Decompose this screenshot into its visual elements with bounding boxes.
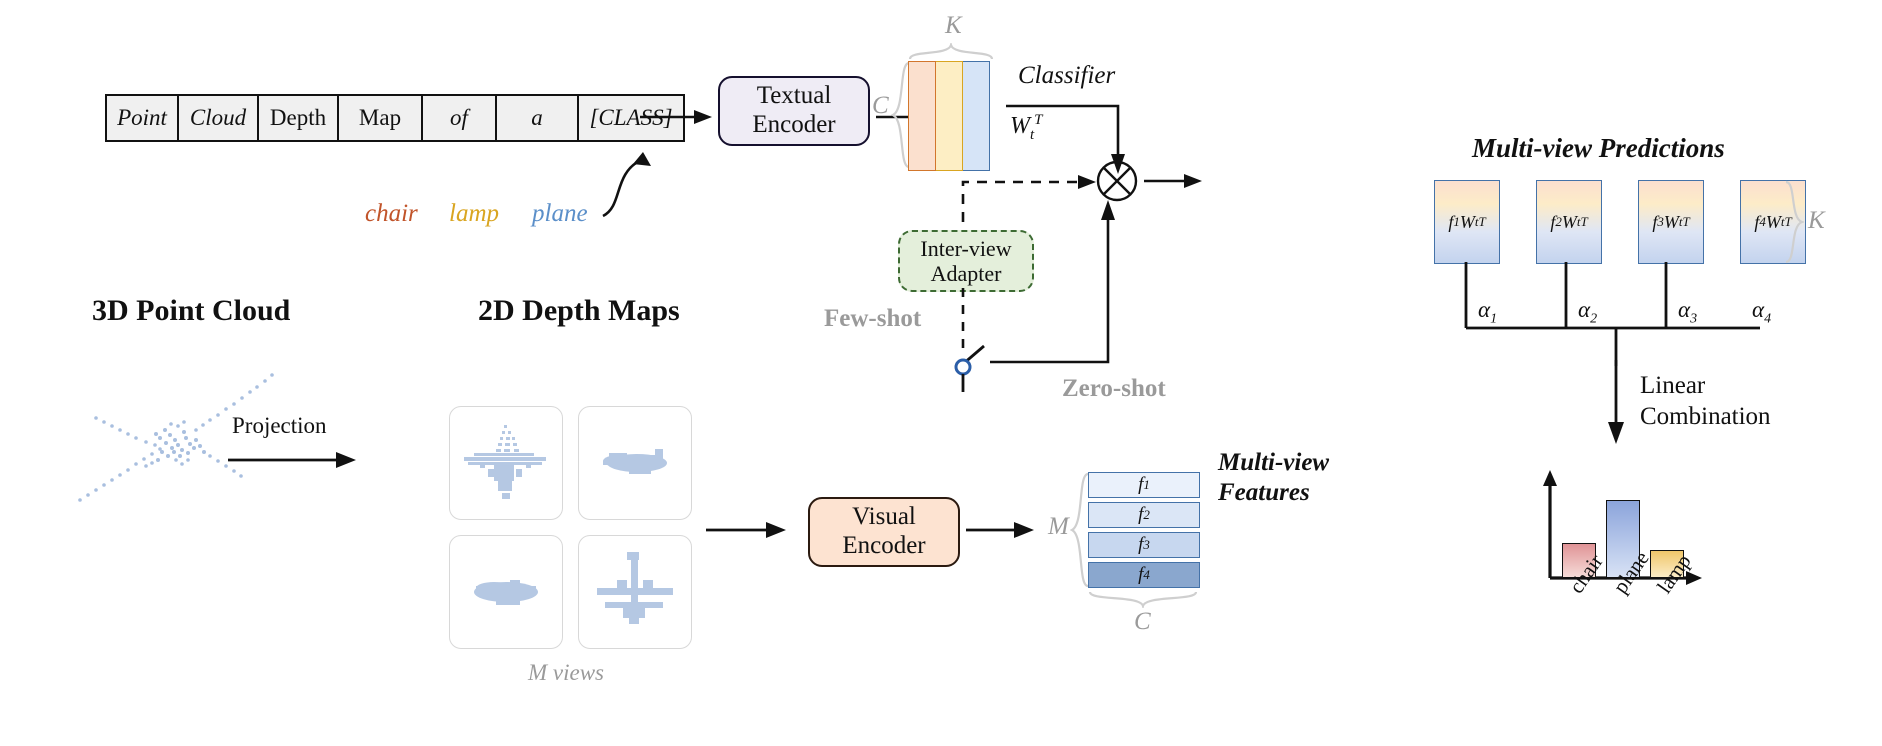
visual-encoder-line2: Encoder [842, 532, 925, 561]
visual-encoder-line1: Visual [852, 503, 916, 532]
alpha-1-symbol: α [1478, 297, 1490, 322]
class-word-chair: chair [365, 200, 418, 228]
prompt-cell-5: a [497, 96, 579, 140]
prediction-2-w: W [1562, 212, 1577, 233]
prompt-cell-0: Point [107, 96, 179, 140]
alpha-3-index: 3 [1690, 312, 1697, 327]
prediction-1-wsup: T [1478, 214, 1485, 230]
feature-3-index: 3 [1143, 537, 1150, 553]
arrow-projection [228, 448, 360, 472]
features-c-label: C [1134, 608, 1151, 636]
textual-encoder-line1: Textual [757, 82, 832, 111]
prompt-cell-4: of [423, 96, 497, 140]
prediction-4-w: W [1766, 212, 1781, 233]
prompt-template-table: Point Cloud Depth Map of a [CLASS] [105, 94, 685, 142]
depth-map-card-3[interactable] [449, 535, 563, 649]
m-views-caption: M views [528, 660, 604, 686]
features-caption-line1: Multi-view [1218, 448, 1329, 478]
arrow-multiply-to-predictions [1144, 169, 1206, 193]
projection-label: Projection [232, 413, 327, 439]
classifier-title: Classifier [1018, 62, 1115, 90]
features-m-brace [1070, 472, 1090, 588]
alpha-3-symbol: α [1678, 297, 1690, 322]
class-curved-arrow-icon [565, 140, 675, 220]
prompt-cell-1: Cloud [179, 96, 259, 140]
zero-shot-solid-path [990, 180, 1130, 370]
prediction-1-w: W [1460, 212, 1475, 233]
point-cloud-visual [60, 360, 290, 520]
prediction-boxes-row: f1WtT f2WtT f3WtT f4WtT [1434, 180, 1806, 264]
few-shot-label: Few-shot [824, 305, 921, 333]
alpha-label-4: α4 [1752, 297, 1771, 328]
features-c-brace [1088, 590, 1200, 608]
multiview-feature-stack: f1 f2 f3 f4 [1088, 472, 1200, 592]
zero-shot-label: Zero-shot [1062, 375, 1166, 403]
textual-encoder-line2: Encoder [752, 111, 835, 140]
predictions-title: Multi-view Predictions [1472, 133, 1725, 164]
prediction-bar-chart: chair plane lamp [1530, 470, 1710, 600]
arrow-depthmaps-to-visual-encoder [706, 518, 790, 542]
classifier-c-label: C [872, 92, 889, 120]
visual-encoder-box[interactable]: Visual Encoder [808, 497, 960, 567]
alpha-2-index: 2 [1590, 312, 1597, 327]
arrow-prompt-to-textual-encoder [640, 105, 716, 129]
prompt-cell-2: Depth [259, 96, 339, 140]
alpha-label-1: α1 [1478, 297, 1497, 328]
textual-encoder-box[interactable]: Textual Encoder [718, 76, 870, 146]
feature-4-index: 4 [1143, 567, 1150, 583]
point-cloud-title: 3D Point Cloud [92, 294, 290, 328]
alpha-1-index: 1 [1490, 312, 1497, 327]
multiview-features-caption: Multi-view Features [1218, 448, 1329, 508]
linear-combination-label: Linear Combination [1640, 370, 1771, 433]
alpha-4-index: 4 [1764, 312, 1771, 327]
classifier-column-chair [908, 61, 936, 171]
depth-map-card-4[interactable] [578, 535, 692, 649]
features-m-label: M [1048, 513, 1069, 541]
prediction-3-wsup: T [1682, 214, 1689, 230]
feature-row-4: f4 [1088, 562, 1200, 588]
arrow-to-bar-chart [1600, 360, 1630, 450]
feature-1-index: 1 [1143, 477, 1150, 493]
prompt-cell-3: Map [339, 96, 423, 140]
prediction-3-w: W [1664, 212, 1679, 233]
linear-combination-line1: Linear [1640, 370, 1771, 401]
alpha-label-3: α3 [1678, 297, 1697, 328]
alpha-2-symbol: α [1578, 297, 1590, 322]
features-caption-line2: Features [1218, 478, 1329, 508]
alpha-4-symbol: α [1752, 297, 1764, 322]
mode-switch-toggle[interactable] [944, 340, 996, 392]
feature-row-3: f3 [1088, 532, 1200, 558]
classifier-column-plane [963, 61, 990, 171]
depth-map-card-1[interactable] [449, 406, 563, 520]
feature-row-1: f1 [1088, 472, 1200, 498]
class-word-lamp: lamp [449, 200, 499, 228]
depth-map-card-2[interactable] [578, 406, 692, 520]
depth-maps-title: 2D Depth Maps [478, 294, 680, 328]
arrow-visual-encoder-to-features [966, 518, 1038, 542]
predictions-k-brace [1784, 180, 1804, 264]
prediction-2-wsup: T [1580, 214, 1587, 230]
alpha-label-2: α2 [1578, 297, 1597, 328]
classifier-column-lamp [936, 61, 963, 171]
linear-combination-line2: Combination [1640, 401, 1771, 432]
feature-2-index: 2 [1143, 507, 1150, 523]
feature-row-2: f2 [1088, 502, 1200, 528]
classifier-k-brace [908, 43, 994, 61]
classifier-matrix [908, 61, 990, 171]
predictions-k-label: K [1808, 207, 1825, 235]
prediction-box-1: f1WtT [1434, 180, 1500, 264]
classifier-k-label: K [945, 12, 962, 40]
prediction-box-2: f2WtT [1536, 180, 1602, 264]
prediction-box-3: f3WtT [1638, 180, 1704, 264]
